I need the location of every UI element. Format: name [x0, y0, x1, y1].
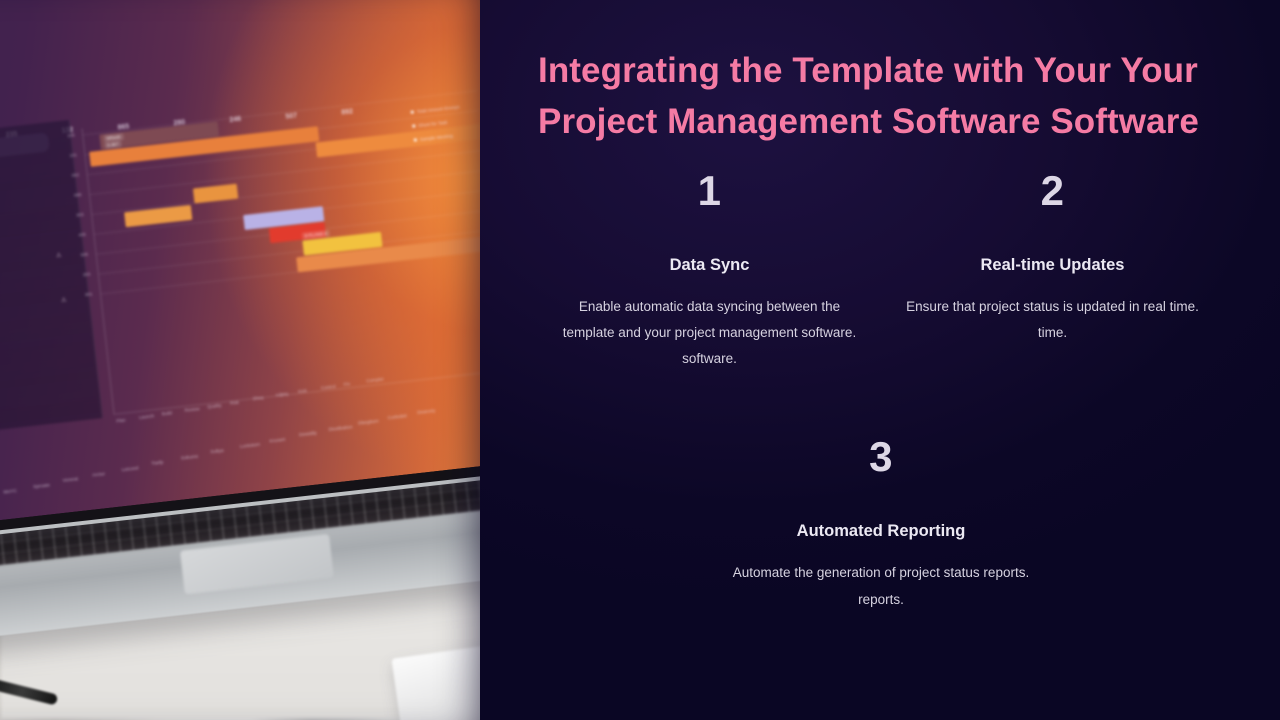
feature-desc-2: Ensure that project status is updated in…: [895, 294, 1210, 347]
feature-row-2: 3 Automated Reporting Automate the gener…: [538, 436, 1224, 613]
feature-title-1: Data Sync: [552, 256, 867, 275]
feature-title-3: Automated Reporting: [724, 522, 1039, 541]
feature-number-1: 1: [552, 170, 867, 212]
photo-edge-shadow: [0, 0, 480, 720]
feature-item-2[interactable]: 2 Real-time Updates Ensure that project …: [881, 170, 1224, 373]
page-title: Integrating the Template with Your Your …: [538, 46, 1224, 148]
feature-desc-3: Automate the generation of project statu…: [724, 560, 1039, 613]
feature-number-3: 3: [724, 436, 1039, 478]
content-panel: Integrating the Template with Your Your …: [480, 0, 1280, 720]
feature-row-1: 1 Data Sync Enable automatic data syncin…: [538, 170, 1224, 373]
feature-list: 1 Data Sync Enable automatic data syncin…: [538, 170, 1224, 614]
laptop-photo: My Project Tasks Roadmap 120235132865280…: [0, 0, 480, 720]
feature-item-1[interactable]: 1 Data Sync Enable automatic data syncin…: [538, 170, 881, 373]
feature-title-2: Real-time Updates: [895, 256, 1210, 275]
feature-desc-1: Enable automatic data syncing between th…: [552, 294, 867, 373]
feature-number-2: 2: [895, 170, 1210, 212]
slide: My Project Tasks Roadmap 120235132865280…: [0, 0, 1280, 720]
feature-item-3[interactable]: 3 Automated Reporting Automate the gener…: [710, 436, 1053, 613]
